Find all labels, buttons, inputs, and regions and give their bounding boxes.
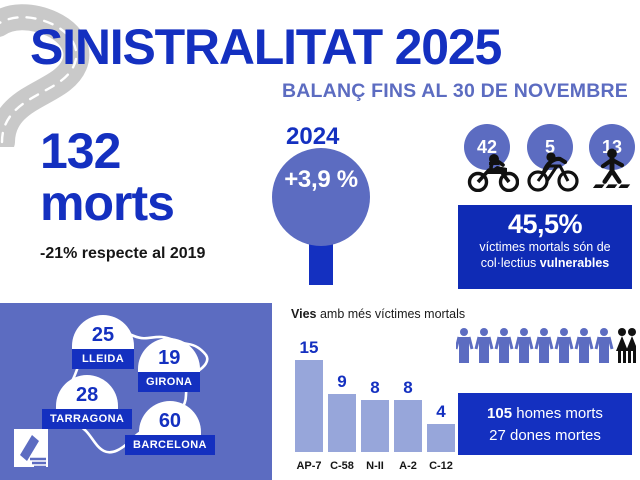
vulnerable-text-line2: col·lectius vulnerables: [458, 256, 632, 272]
trend-percent: +3,9 %: [284, 166, 358, 194]
map-marker-barcelona[interactable]: 60 BARCELONA: [125, 401, 215, 455]
map-label-lleida: LLEIDA: [72, 349, 134, 369]
trend-circle: +3,9 %: [272, 148, 370, 246]
map-count-lleida: 25: [92, 324, 114, 347]
deaths-count: 132: [40, 128, 120, 176]
bar-label-c12: C-12: [424, 460, 458, 472]
map-label-tarragona: TARRAGONA: [42, 409, 132, 429]
sex-breakdown-panel: 105 homes morts 27 dones mortes: [458, 393, 632, 455]
map-marker-girona[interactable]: 19 GIRONA: [138, 338, 200, 392]
bar-value-c12: 4: [427, 402, 455, 422]
female-figure-icon: [616, 328, 636, 363]
map-marker-lleida[interactable]: 25 LLEIDA: [72, 315, 134, 369]
chart-title-rest: amb més víctimes mortals: [317, 307, 466, 321]
vulnerable-panel: 45,5% víctimes mortals són de col·lectiu…: [458, 205, 632, 289]
bar-label-c58: C-58: [325, 460, 359, 472]
vulnerable-text-line1: víctimes mortals són de: [458, 240, 632, 256]
deaths-word: morts: [40, 180, 174, 228]
men-deaths-count: 105: [487, 405, 512, 422]
bar-c58: [328, 394, 356, 452]
pedestrian-icon: [586, 148, 638, 188]
bar-c12: [427, 424, 455, 452]
map-count-barcelona: 60: [159, 410, 181, 433]
page-title: SINISTRALITAT 2025: [30, 18, 501, 76]
page-subtitle: BALANÇ FINS AL 30 DE NOVEMBRE: [282, 80, 628, 103]
bar-value-nii: 8: [361, 378, 389, 398]
motorcycle-icon: [467, 152, 519, 192]
infographic-root: SINISTRALITAT 2025 BALANÇ FINS AL 30 DE …: [0, 0, 640, 480]
vulnerable-line2-strong: vulnerables: [540, 256, 609, 270]
bar-label-ap7: AP-7: [292, 460, 326, 472]
bar-value-a2: 8: [394, 378, 422, 398]
vulnerable-percent: 45,5%: [458, 210, 632, 238]
chart-title: Vies amb més víctimes mortals: [291, 307, 465, 321]
map-marker-tarragona[interactable]: 28 TARRAGONA: [42, 375, 132, 429]
women-deaths-line: 27 dones mortes: [458, 425, 632, 447]
bar-nii: [361, 400, 389, 452]
trend-year-label: 2024: [286, 123, 339, 151]
bar-label-a2: A-2: [391, 460, 425, 472]
map-count-tarragona: 28: [76, 384, 98, 407]
roads-bar-chart: 15 9 8 8 4 AP-7 C-58 N-II A-2 C-12: [291, 332, 451, 480]
map-label-girona: GIRONA: [138, 372, 200, 392]
bicycle-icon: [527, 152, 579, 192]
bar-value-ap7: 15: [295, 338, 323, 358]
bar-a2: [394, 400, 422, 452]
generalitat-logo-icon: [12, 425, 54, 471]
deaths-comparison: -21% respecte al 2019: [40, 245, 205, 263]
bar-value-c58: 9: [328, 372, 356, 392]
chart-title-strong: Vies: [291, 307, 317, 321]
people-figures: [456, 327, 636, 365]
map-label-barcelona: BARCELONA: [125, 435, 215, 455]
bar-label-nii: N-II: [358, 460, 392, 472]
men-deaths-label: homes morts: [512, 405, 603, 422]
male-figure-icon: [456, 328, 612, 363]
map-count-girona: 19: [158, 347, 180, 370]
bar-ap7: [295, 360, 323, 452]
men-deaths-line: 105 homes morts: [458, 403, 632, 425]
vulnerable-line2-prefix: col·lectius: [481, 256, 540, 270]
